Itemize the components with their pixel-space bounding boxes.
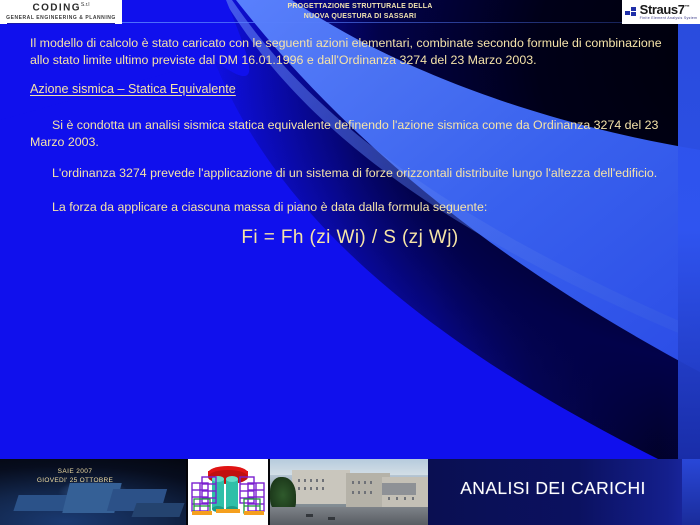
photo-window [352,491,354,494]
paragraph-static-analysis-text: Si è condotta un analisi sismica statica… [30,118,658,149]
photo-window [396,497,398,500]
photo-window [370,481,372,484]
straus7-logo-name: Straus7™ [640,3,698,16]
slide-body: Il modello di calcolo è stato caricato c… [0,27,700,459]
paragraph-intro: Il modello di calcolo è stato caricato c… [30,35,678,69]
photo-window [412,497,414,500]
photo-window [370,491,372,494]
photo-window [364,481,366,484]
coding-logo-name-text: CODING [32,3,80,14]
photo-window [358,491,360,494]
coding-logo-rule [7,23,115,24]
photo-window [322,479,324,482]
photo-car [328,517,335,520]
coding-logo-name: CODINGS.r.l [32,0,89,13]
straus7-logo: Straus7™ Finite Element Analysis System [622,0,700,24]
footer-event-date: GIOVEDI' 25 OTTOBRE [0,476,150,485]
paragraph-floor-force-text: La forza da applicare a ciascuna massa d… [52,200,487,214]
paragraph-ordinance: L'ordinanza 3274 prevede l'applicazione … [30,165,682,182]
photo-window [298,487,300,490]
footer-event-name: SAIE 2007 [0,467,150,476]
coding-logo-tagline: GENERAL ENGINEERING & PLANNING [6,15,116,22]
photo-building-roof [382,483,416,495]
paragraph-floor-force: La forza da applicare a ciascuna massa d… [30,199,682,216]
slide-header: CODINGS.r.l GENERAL ENGINEERING & PLANNI… [0,0,700,27]
straus7-logo-tagline: Finite Element Analysis System [640,17,698,21]
photo-window [364,491,366,494]
questura-building-photo-thumbnail [270,459,428,525]
photo-window [388,497,390,500]
coding-logo: CODINGS.r.l GENERAL ENGINEERING & PLANNI… [0,0,122,24]
straus7-squares-icon [625,7,638,18]
photo-window [352,481,354,484]
photo-window [310,487,312,490]
photo-window [316,487,318,490]
header-title-line1: PROGETTAZIONE STRUTTURALE DELLA [230,2,490,12]
photo-window [358,481,360,484]
photo-building-left [292,470,350,504]
photo-window [298,479,300,482]
coding-logo-suffix: S.r.l [81,2,90,8]
photo-window [310,479,312,482]
header-title-line2: NUOVA QUESTURA DI SASSARI [230,12,490,22]
paragraph-static-analysis: Si è condotta un analisi sismica statica… [30,117,674,151]
photo-car [306,514,313,517]
render-block-4 [131,503,184,517]
straus7-logo-name-text: Straus7 [640,2,685,17]
heading-seismic-action: Azione sismica – Statica Equivalente [30,81,236,98]
photo-road [270,507,428,525]
presentation-slide: CODINGS.r.l GENERAL ENGINEERING & PLANNI… [0,0,700,525]
seismic-force-formula: Fi = Fh (zi Wi) / S (zj Wj) [0,229,700,246]
section-title: ANALISI DEI CARICHI [428,478,678,499]
photo-window [316,479,318,482]
fem-model-thumbnail [188,459,268,525]
straus7-trademark: ™ [685,5,690,11]
photo-window [304,487,306,490]
photo-window [322,487,324,490]
footer-right-edge-strip [682,459,700,525]
header-project-title: PROGETTAZIONE STRUTTURALE DELLA NUOVA QU… [230,2,490,21]
photo-window [404,497,406,500]
straus7-logo-textwrap: Straus7™ Finite Element Analysis System [640,3,698,21]
footer-section-title-band: ANALISI DEI CARICHI [428,459,700,525]
paragraph-ordinance-text: L'ordinanza 3274 prevede l'applicazione … [52,166,657,180]
photo-window [304,479,306,482]
footer-event-info: SAIE 2007 GIOVEDI' 25 OTTOBRE [0,467,150,485]
